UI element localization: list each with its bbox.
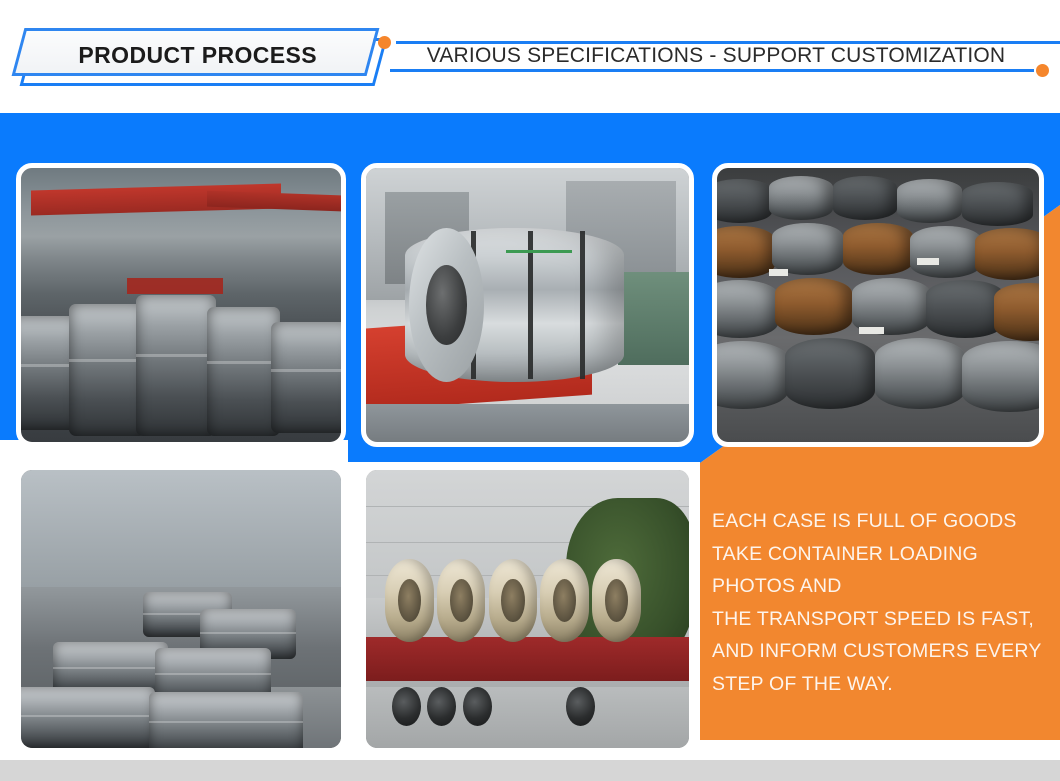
product-process-banner: PRODUCT PROCESS VARIOUS SPECIFICATIONS -… (0, 0, 1060, 781)
photo-5-image (366, 470, 689, 748)
list-item[interactable] (16, 465, 346, 753)
caption-block: EACH CASE IS FULL OF GOODS TAKE CONTAINE… (712, 505, 1050, 700)
orange-dot-icon-left (378, 36, 391, 49)
photo-2-image (366, 168, 689, 442)
caption-line-4: THE TRANSPORT SPEED IS FAST, (712, 603, 1050, 636)
page-title: PRODUCT PROCESS (20, 31, 375, 79)
header-subtitle: VARIOUS SPECIFICATIONS - SUPPORT CUSTOMI… (396, 42, 1036, 70)
list-item[interactable] (361, 465, 694, 753)
caption-line-6: STEP OF THE WAY. (712, 668, 1050, 701)
caption-line-5: AND INFORM CUSTOMERS EVERY (712, 635, 1050, 668)
orange-dot-icon-right (1036, 64, 1049, 77)
caption-line-3: PHOTOS AND (712, 570, 1050, 603)
caption-line-1: EACH CASE IS FULL OF GOODS (712, 505, 1050, 538)
bottom-grey-strip (0, 760, 1060, 781)
photo-3-image (717, 168, 1039, 442)
photo-1-image (21, 168, 341, 442)
list-item[interactable] (712, 163, 1044, 447)
caption-line-2: TAKE CONTAINER LOADING (712, 538, 1050, 571)
photo-4-image (21, 470, 341, 748)
header: PRODUCT PROCESS VARIOUS SPECIFICATIONS -… (0, 0, 1060, 113)
list-item[interactable] (16, 163, 346, 447)
title-badge: PRODUCT PROCESS (12, 28, 380, 76)
list-item[interactable] (361, 163, 694, 447)
